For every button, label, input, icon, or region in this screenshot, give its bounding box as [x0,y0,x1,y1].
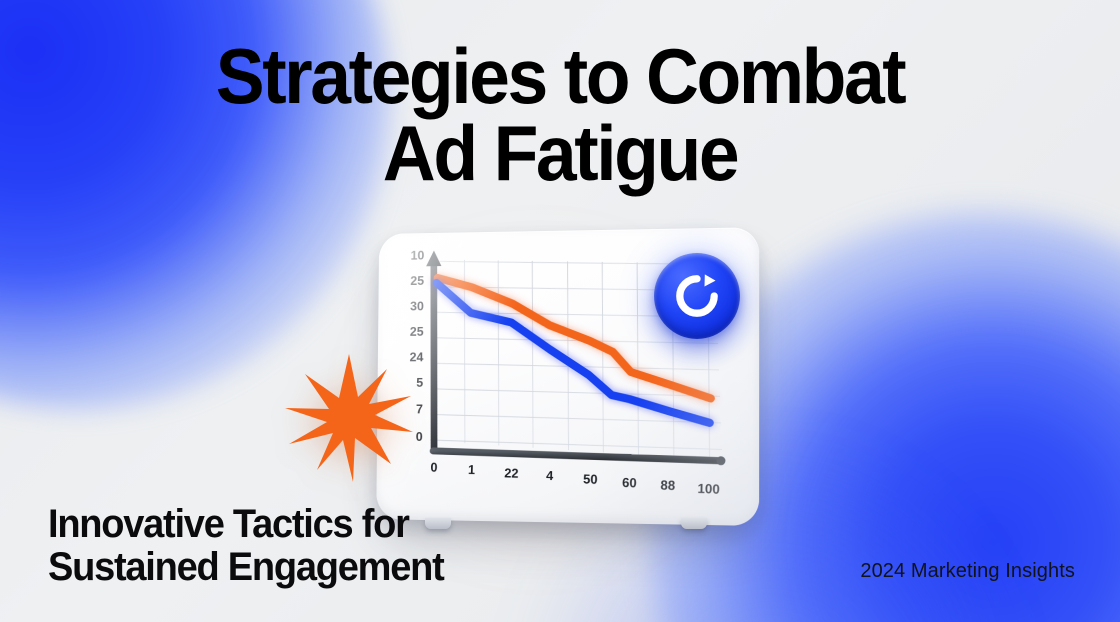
x-tick-4: 50 [583,471,598,487]
x-tick-3: 4 [546,468,554,483]
y-tick-6: 7 [416,401,423,416]
subtitle-line-2: Sustained Engagement [48,546,443,588]
y-tick-0: 10 [411,248,425,263]
credit-text: 2024 Marketing Insights [860,560,1075,583]
x-tick-5: 60 [622,475,637,491]
refresh-badge[interactable] [654,253,740,339]
card-foot-right [681,518,707,529]
x-tick-6: 88 [660,477,675,493]
subtitle: Innovative Tactics for Sustained Engagem… [48,503,443,588]
x-tick-labels: 0 1 22 4 50 60 88 100 [430,460,720,497]
headline-line-2: Ad Fatigue [34,115,1087,192]
y-tick-1: 25 [410,273,424,288]
x-tick-7: 100 [697,481,720,497]
starburst-icon [283,352,415,484]
x-tick-2: 22 [504,465,519,481]
x-tick-0: 0 [430,460,437,475]
y-tick-5: 5 [416,375,423,390]
y-tick-7: 0 [416,429,423,444]
poster-canvas: Strategies to Combat Ad Fatigue [0,0,1120,622]
x-axis [433,451,725,465]
headline-line-1: Strategies to Combat [34,38,1087,115]
page-title: Strategies to Combat Ad Fatigue [34,38,1087,192]
refresh-icon [672,271,722,321]
x-tick-1: 1 [468,462,475,477]
y-tick-2: 30 [410,298,424,313]
subtitle-line-1: Innovative Tactics for [48,503,443,545]
y-tick-3: 25 [410,324,424,339]
